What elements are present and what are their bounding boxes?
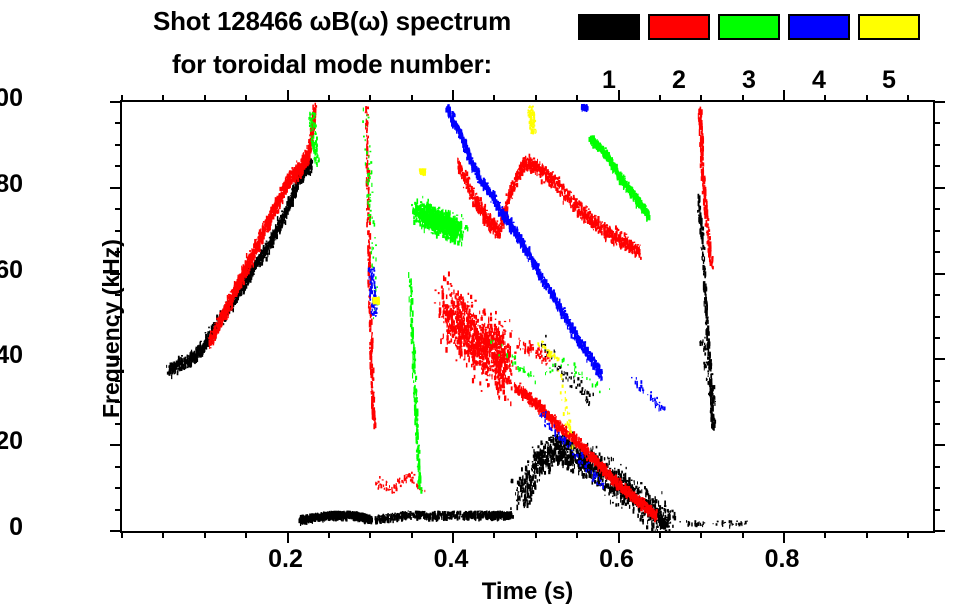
x-tick: [162, 531, 164, 538]
series-n-2: [208, 103, 714, 523]
y-tick: [115, 423, 122, 425]
y-axis-title: Frequency (kHz): [98, 239, 125, 418]
x-tick: [369, 95, 371, 102]
x-tick-label: 0.2: [246, 545, 326, 574]
y-tick: [115, 230, 122, 232]
y-tick: [933, 487, 940, 489]
x-tick: [493, 95, 495, 102]
y-tick-label: 40: [0, 343, 23, 368]
x-tick: [866, 95, 868, 102]
x-tick: [287, 90, 289, 102]
x-tick: [452, 531, 454, 543]
series-n-3: [308, 108, 650, 494]
x-tick: [287, 531, 289, 543]
y-tick-label: 100: [0, 86, 23, 111]
x-tick: [700, 531, 702, 538]
x-tick: [824, 531, 826, 538]
chart-title-line-1: Shot 128466 ωB(ω) spectrum: [112, 6, 552, 37]
x-tick: [824, 95, 826, 102]
x-axis-title: Time (s): [120, 578, 935, 606]
y-tick: [115, 509, 122, 511]
x-tick: [204, 95, 206, 102]
x-tick: [245, 95, 247, 102]
y-tick: [933, 401, 940, 403]
y-tick: [933, 251, 940, 253]
y-tick: [115, 466, 122, 468]
y-tick: [933, 466, 940, 468]
plot-area: Frequency (kHz): [120, 100, 935, 533]
spectrogram-canvas: [122, 102, 933, 531]
y-tick: [933, 423, 940, 425]
y-tick: [115, 487, 122, 489]
x-tick: [204, 531, 206, 538]
x-tick: [328, 531, 330, 538]
y-tick: [933, 101, 945, 103]
y-tick: [110, 187, 122, 189]
x-tick: [535, 531, 537, 538]
y-tick: [933, 144, 940, 146]
x-tick: [742, 95, 744, 102]
x-tick: [742, 531, 744, 538]
x-tick: [121, 95, 123, 102]
y-tick: [933, 337, 940, 339]
y-tick: [933, 444, 945, 446]
x-tick: [659, 531, 661, 538]
y-tick: [933, 358, 945, 360]
chart-title-text: Shot 128466 ωB(ω) spectrum: [153, 6, 511, 36]
y-tick: [110, 444, 122, 446]
y-tick: [933, 380, 940, 382]
x-tick: [328, 95, 330, 102]
y-tick: [933, 294, 940, 296]
legend-label-1: 1: [578, 66, 640, 95]
x-tick: [576, 95, 578, 102]
x-tick: [452, 90, 454, 102]
legend-swatch-5: [858, 14, 920, 40]
x-tick-label: 0.8: [742, 545, 822, 574]
x-tick: [121, 531, 123, 538]
y-tick: [933, 316, 940, 318]
y-tick: [933, 230, 940, 232]
x-tick: [411, 95, 413, 102]
y-tick: [115, 165, 122, 167]
y-tick: [933, 187, 945, 189]
y-tick-label: 60: [0, 258, 23, 283]
y-tick: [115, 144, 122, 146]
y-tick: [115, 208, 122, 210]
legend-label-5: 5: [858, 66, 920, 95]
x-tick: [700, 95, 702, 102]
x-tick: [907, 95, 909, 102]
y-tick-label: 80: [0, 172, 23, 197]
legend-label-4: 4: [788, 66, 850, 95]
x-tick: [907, 531, 909, 538]
x-tick: [576, 531, 578, 538]
y-tick: [933, 122, 940, 124]
y-tick-label: 0: [0, 515, 23, 540]
x-tick-label: 0.4: [411, 545, 491, 574]
y-tick: [933, 208, 940, 210]
y-tick: [933, 530, 945, 532]
y-tick: [933, 509, 940, 511]
x-tick: [659, 95, 661, 102]
x-tick: [783, 90, 785, 102]
x-tick: [245, 531, 247, 538]
legend-swatch-1: [578, 14, 640, 40]
x-tick: [411, 531, 413, 538]
x-tick: [162, 95, 164, 102]
y-tick: [115, 122, 122, 124]
legend-swatch-2: [648, 14, 710, 40]
legend-swatch-3: [718, 14, 780, 40]
chart-title-line-2: for toroidal mode number:: [112, 49, 552, 80]
y-tick: [933, 273, 945, 275]
legend-label-3: 3: [718, 66, 780, 95]
x-tick: [535, 95, 537, 102]
series-n-4: [368, 104, 666, 489]
y-tick-label: 20: [0, 429, 23, 454]
spectrogram-points: [122, 102, 933, 531]
series-n-1: [166, 158, 748, 531]
x-tick: [783, 531, 785, 543]
legend-label-2: 2: [648, 66, 710, 95]
x-tick: [618, 531, 620, 543]
x-tick: [866, 531, 868, 538]
y-tick: [933, 165, 940, 167]
x-tick: [618, 90, 620, 102]
legend-swatch-4: [788, 14, 850, 40]
x-tick: [369, 531, 371, 538]
x-tick: [493, 531, 495, 538]
x-tick-label: 0.6: [577, 545, 657, 574]
